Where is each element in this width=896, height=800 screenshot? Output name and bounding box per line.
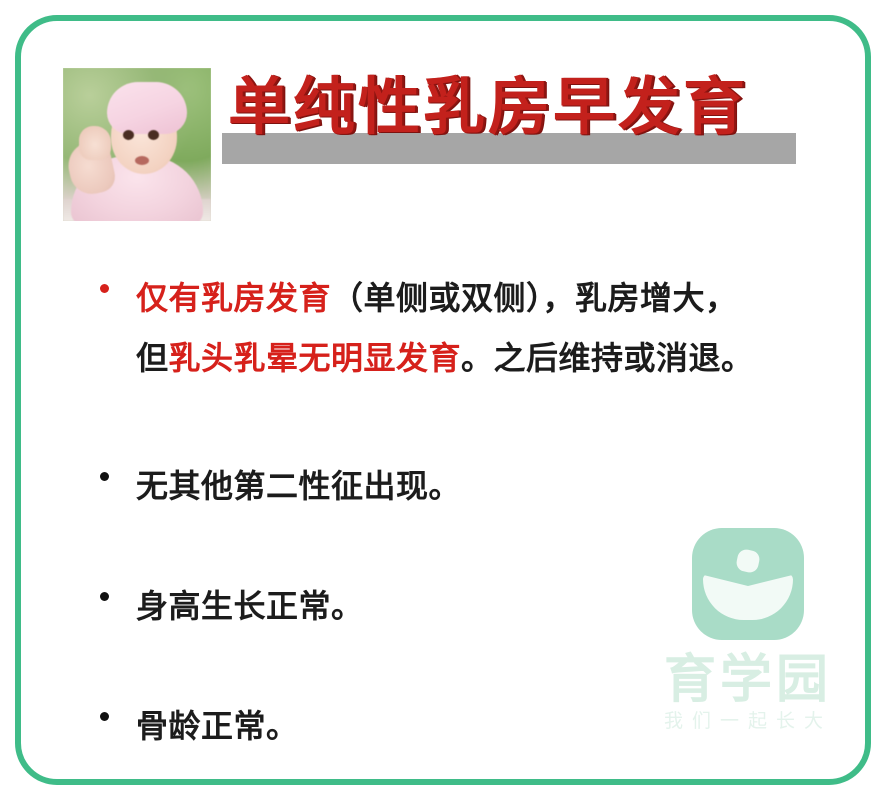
bullet-dot-icon [100, 472, 109, 481]
photo-baby-mouth [135, 156, 149, 165]
baby-photo [63, 68, 211, 221]
bullet-text: 无其他第二性征出现。 [136, 456, 882, 516]
bullet-dot-icon [100, 712, 109, 721]
bullet-1-plain-2: 但 [136, 340, 169, 376]
bullet-text: 仅有乳房发育（单侧或双侧），乳房增大， 但乳头乳晕无明显发育。之后维持或消退。 [136, 268, 882, 388]
bullet-dot-icon [100, 592, 109, 601]
photo-baby-hat [107, 82, 187, 134]
bullet-dot-icon [100, 284, 109, 293]
bullet-1-plain-1: （单侧或双侧），乳房增大， [331, 280, 738, 316]
bullet-text-line-1: 仅有乳房发育（单侧或双侧），乳房增大， [136, 268, 882, 328]
page-title: 单纯性乳房早发育 [228, 72, 868, 144]
bullet-1-highlight-1: 仅有乳房发育 [136, 280, 331, 316]
list-item: 无其他第二性征出现。 [92, 456, 882, 516]
brand-name: 育学园 [648, 652, 848, 708]
bullet-1-highlight-2: 乳头乳晕无明显发育 [169, 340, 462, 376]
brand-tagline: 我们一起长大 [648, 710, 848, 734]
bullet-1-plain-3: 。之后维持或消退。 [461, 340, 754, 376]
logo-head-shape [735, 548, 761, 574]
bullet-text-line-2: 但乳头乳晕无明显发育。之后维持或消退。 [136, 328, 882, 388]
list-item: 仅有乳房发育（单侧或双侧），乳房增大， 但乳头乳晕无明显发育。之后维持或消退。 [92, 268, 882, 388]
slide-canvas: 单纯性乳房早发育 仅有乳房发育（单侧或双侧），乳房增大， 但乳头乳晕无明显发育。… [0, 0, 896, 800]
brand-watermark: 育学园 我们一起长大 [648, 528, 848, 734]
photo-baby-hand [79, 126, 111, 160]
logo-bowl-shape [703, 574, 793, 620]
photo-baby-eye-left [123, 130, 134, 140]
photo-baby-eye-right [148, 130, 159, 140]
baby-bowl-logo-icon [692, 528, 804, 640]
slide-header: 单纯性乳房早发育 [0, 0, 896, 235]
